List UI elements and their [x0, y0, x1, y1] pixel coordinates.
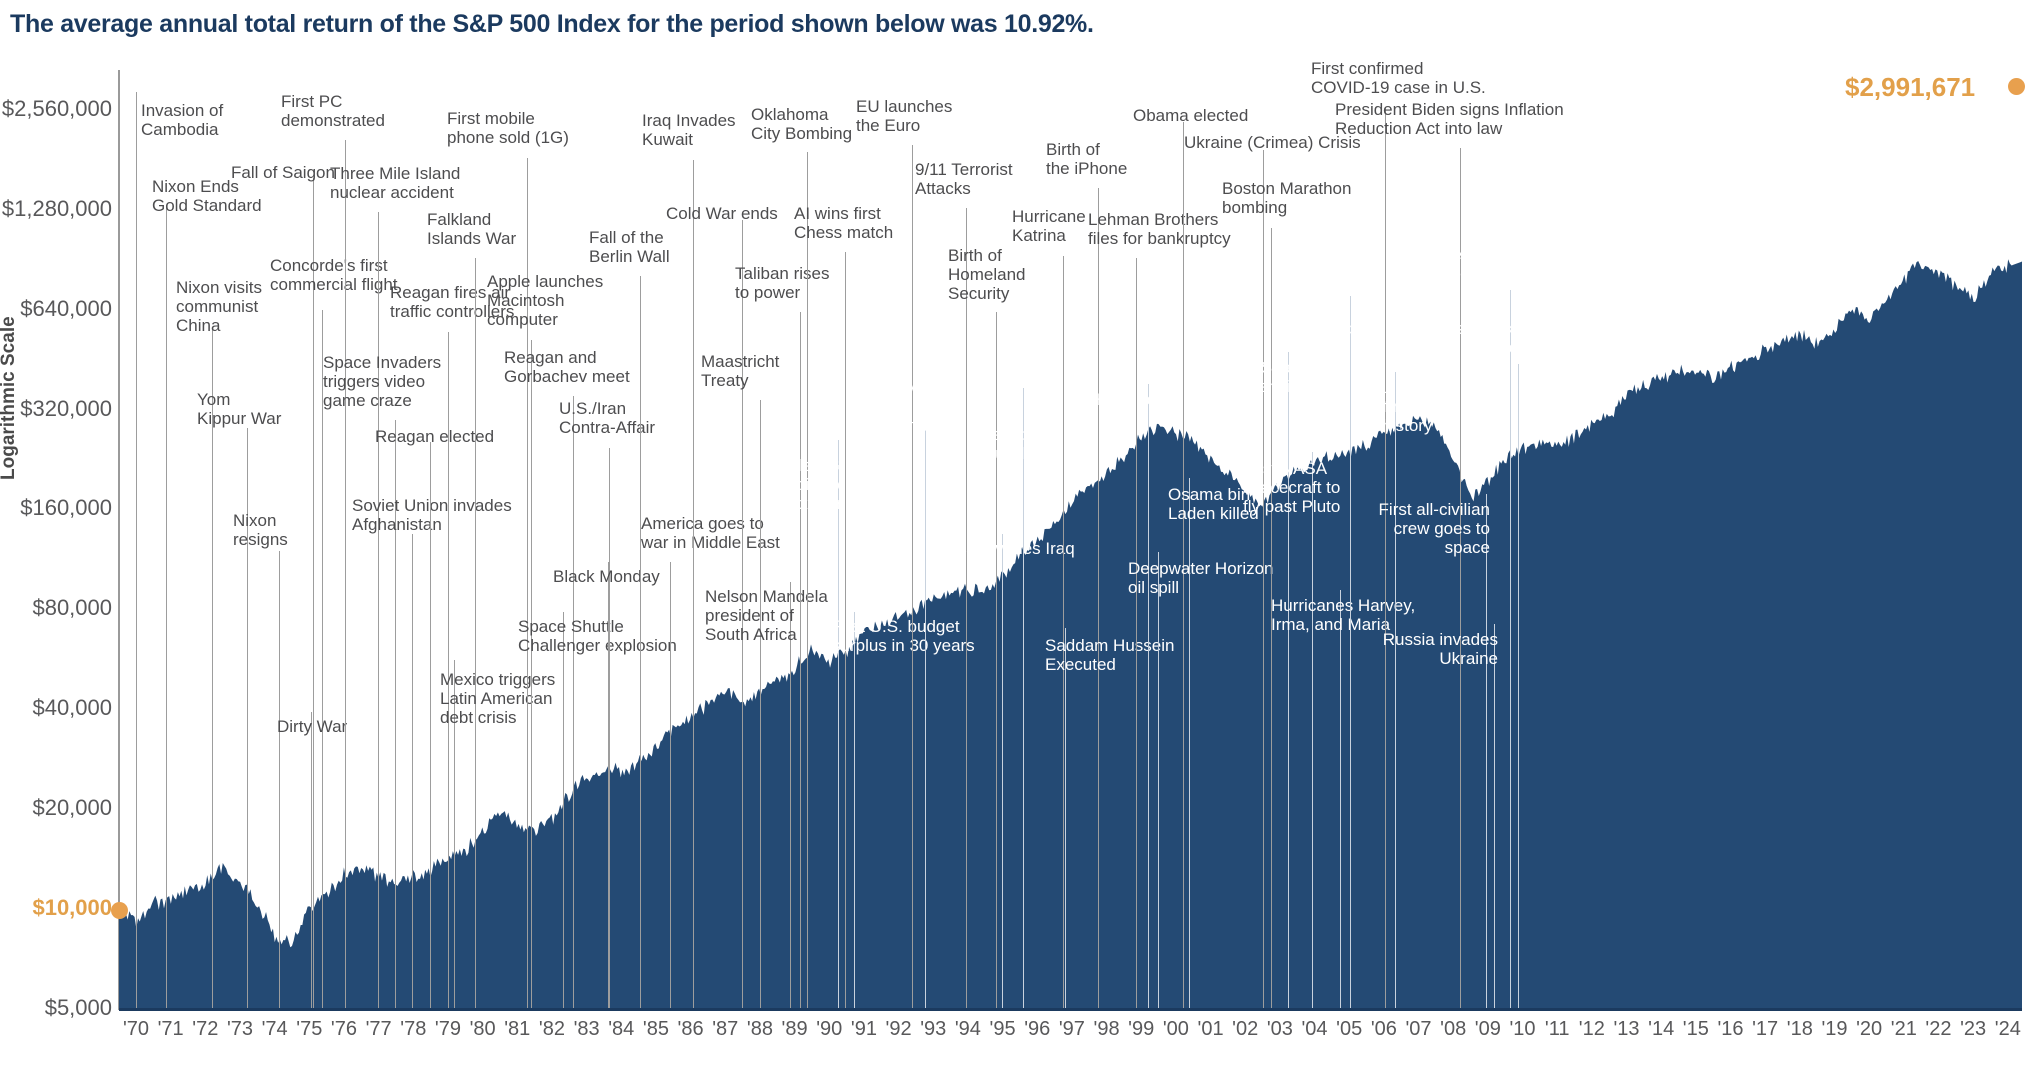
annotation-label: Nixon visits communist China — [176, 278, 262, 335]
x-tick-label: '11 — [1545, 1018, 1570, 1041]
annotation-leader-line — [693, 160, 694, 1008]
x-tick-label: '90 — [816, 1018, 842, 1041]
x-tick-label: '09 — [1475, 1018, 1501, 1041]
annotation-label: Soviet Union invades Afghanistan — [352, 496, 512, 534]
annotation-leader-line — [807, 152, 808, 1008]
annotation-label: Fall of the Berlin Wall — [589, 228, 670, 266]
annotation-leader-line — [412, 534, 413, 1008]
annotation-leader-line — [475, 258, 476, 1008]
y-tick-label: $1,280,000 — [0, 196, 112, 222]
x-tick-label: '23 — [1960, 1018, 1986, 1041]
annotation-leader-line — [1288, 352, 1289, 1008]
annotation-leader-line — [1098, 188, 1099, 1008]
annotation-leader-line — [430, 442, 431, 1008]
x-tick-label: '82 — [539, 1018, 565, 1041]
annotation-leader-line — [378, 212, 379, 1008]
annotation-label: Obama elected — [1133, 106, 1248, 125]
x-tick-label: '78 — [400, 1018, 426, 1041]
x-tick-label: '08 — [1440, 1018, 1466, 1041]
annotation-label: Three Mile Island nuclear accident — [330, 164, 460, 202]
y-tick-label: $40,000 — [0, 695, 112, 721]
annotation-leader-line — [1158, 552, 1159, 1008]
annotation-leader-line — [670, 562, 671, 1008]
x-tick-label: '84 — [608, 1018, 634, 1041]
annotation-label: Lehman Brothers files for bankruptcy — [1088, 210, 1231, 248]
x-tick-label: '06 — [1371, 1018, 1397, 1041]
annotation-label: Birth of Homeland Security — [948, 246, 1026, 303]
annotation-leader-line — [322, 310, 323, 1008]
annotation-leader-line — [563, 612, 564, 1008]
annotation-label: First confirmed COVID-19 case in U.S. — [1311, 59, 1486, 97]
annotation-label: EU launches the Euro — [856, 97, 952, 135]
annotation-label: Trump elected — [1299, 300, 1354, 338]
annotation-label: Apple launches Macintosh computer — [487, 272, 603, 329]
annotation-label: Russia invades Ukraine — [1383, 630, 1498, 668]
annotation-label: Deadliest wildfires in CA history — [1355, 378, 1434, 435]
x-tick-label: '14 — [1648, 1018, 1674, 1041]
annotation-label: Hurricane Katrina — [1012, 207, 1086, 245]
x-tick-label: '13 — [1613, 1018, 1639, 1041]
x-tick-label: '85 — [643, 1018, 669, 1041]
y-tick-label: $80,000 — [0, 595, 112, 621]
annotation-leader-line — [1385, 108, 1386, 1008]
x-axis-line — [119, 1008, 2022, 1011]
x-tick-label: '02 — [1232, 1018, 1258, 1041]
annotation-leader-line — [531, 340, 532, 1008]
annotation-label: ISIS begins offensive in Iraq — [1240, 358, 1360, 396]
x-tick-label: '73 — [227, 1018, 253, 1041]
annotation-leader-line — [1263, 150, 1264, 1008]
y-tick-label: $2,560,000 — [0, 96, 112, 122]
annotation-leader-line — [760, 400, 761, 1008]
y-tick-label: $640,000 — [0, 296, 112, 322]
end-value-label: $2,991,671 — [1845, 72, 1975, 103]
x-tick-label: '05 — [1336, 1018, 1362, 1041]
x-tick-label: '98 — [1094, 1018, 1120, 1041]
annotation-leader-line — [1148, 384, 1149, 1008]
x-tick-label: '01 — [1198, 1018, 1224, 1041]
annotation-leader-line — [1189, 478, 1190, 1008]
annotation-label: Alan Greenspan coins term “Irrational Ex… — [788, 456, 943, 513]
x-tick-label: '72 — [192, 1018, 218, 1041]
annotation-label: Fall of Saigon — [231, 163, 335, 182]
annotation-leader-line — [212, 330, 213, 1008]
annotation-label: Invasion of Cambodia — [141, 101, 223, 139]
annotation-label: Space Invaders triggers video game craze — [323, 353, 441, 410]
annotation-leader-line — [573, 396, 574, 1008]
annotation-leader-line — [1002, 534, 1003, 1008]
annotation-leader-line — [608, 562, 609, 1008]
x-tick-label: '77 — [366, 1018, 392, 1041]
x-tick-label: '00 — [1163, 1018, 1189, 1041]
annotation-label: Hamas attacks Israel — [1410, 319, 1522, 357]
annotation-leader-line — [790, 582, 791, 1008]
x-tick-label: '10 — [1509, 1018, 1535, 1041]
annotation-label: Nelson Mandela president of South Africa — [705, 587, 828, 644]
annotation-leader-line — [640, 276, 641, 1008]
annotation-label: Saddam Hussein Executed — [1045, 636, 1174, 674]
page-title: The average annual total return of the S… — [10, 10, 1094, 39]
x-tick-label: '03 — [1267, 1018, 1293, 1041]
x-tick-label: '99 — [1128, 1018, 1154, 1041]
annotation-leader-line — [313, 178, 314, 1008]
x-tick-label: '21 — [1891, 1018, 1917, 1041]
x-tick-label: '75 — [296, 1018, 322, 1041]
x-tick-label: '19 — [1821, 1018, 1847, 1041]
annotation-leader-line — [1494, 624, 1495, 1008]
annotation-label: Cold War ends — [666, 204, 778, 223]
x-tick-label: '83 — [574, 1018, 600, 1041]
annotation-label: First U.S. budget surplus in 30 years — [832, 617, 975, 655]
annotation-leader-line — [925, 430, 926, 1008]
y-tick-label: $5,000 — [0, 995, 112, 1021]
annotation-label: Taliban rises to power — [735, 264, 830, 302]
annotation-label: 9/11 Terrorist Attacks — [915, 160, 1013, 198]
x-tick-label: '95 — [990, 1018, 1016, 1041]
annotation-label: First mobile phone sold (1G) — [447, 109, 569, 147]
annotation-leader-line — [609, 448, 610, 1008]
x-tick-label: '79 — [435, 1018, 461, 1041]
x-tick-label: '91 — [851, 1018, 877, 1041]
x-tick-label: '81 — [504, 1018, 530, 1041]
annotation-label: Maastricht Treaty — [701, 352, 779, 390]
x-tick-label: '16 — [1717, 1018, 1743, 1041]
annotation-label: President Biden signs Inflation Reductio… — [1335, 100, 1564, 138]
annotation-leader-line — [1340, 590, 1341, 1008]
annotation-leader-line — [1023, 388, 1024, 1008]
annotation-leader-line — [1486, 494, 1487, 1008]
x-tick-label: '20 — [1856, 1018, 1882, 1041]
annotation-label: Reagan elected — [375, 427, 494, 446]
annotation-label: Mexico triggers Latin American debt cris… — [440, 670, 555, 727]
annotation-leader-line — [1065, 628, 1066, 1008]
annotation-label: Space Shuttle Challenger explosion — [518, 617, 677, 655]
x-tick-label: '04 — [1301, 1018, 1327, 1041]
annotation-label: Black Monday — [553, 567, 660, 586]
annotation-leader-line — [279, 551, 280, 1008]
annotation-leader-line — [1312, 452, 1313, 1008]
annotation-leader-line — [1136, 258, 1137, 1008]
x-tick-label: '96 — [1024, 1018, 1050, 1041]
annotation-label: Falkland Islands War — [427, 210, 516, 248]
end-value-marker — [2008, 78, 2025, 95]
y-tick-label: $10,000 — [0, 895, 112, 921]
x-tick-label: '88 — [747, 1018, 773, 1041]
annotation-label: Yom Kippur War — [197, 390, 281, 428]
annotation-label: Boston Marathon bombing — [1222, 179, 1351, 217]
x-tick-label: '24 — [1995, 1018, 2021, 1041]
x-tick-label: '93 — [920, 1018, 946, 1041]
x-tick-label: '76 — [331, 1018, 357, 1041]
annotation-leader-line — [345, 140, 346, 1008]
annotation-label: Birth of the iPhone — [1046, 140, 1127, 178]
x-tick-label: '71 — [158, 1018, 184, 1041]
annotation-label: H1N1 declared global pandemic — [1089, 390, 1213, 428]
x-axis-ticks: '70'71'72'73'74'75'76'77'78'79'80'81'82'… — [119, 1018, 2022, 1048]
y-tick-label: $320,000 — [0, 396, 112, 422]
x-tick-label: '70 — [123, 1018, 149, 1041]
start-value-marker — [111, 902, 128, 919]
annotation-leader-line — [800, 312, 801, 1008]
x-tick-label: '94 — [955, 1018, 981, 1041]
x-tick-label: '97 — [1059, 1018, 1085, 1041]
annotation-label: Dirty War — [277, 717, 347, 736]
annotation-label: First all-civilian crew goes to space — [1379, 500, 1490, 557]
annotation-leader-line — [854, 612, 855, 1008]
annotation-label: Nixon Ends Gold Standard — [152, 177, 262, 215]
annotation-leader-line — [1063, 256, 1064, 1008]
x-tick-label: '86 — [678, 1018, 704, 1041]
annotation-label: Facebook is launched — [982, 425, 1074, 463]
x-tick-label: '17 — [1752, 1018, 1778, 1041]
annotation-label: First PC demonstrated — [281, 92, 385, 130]
x-tick-label: '12 — [1579, 1018, 1605, 1041]
annotation-label: Deepwater Horizon oil spill — [1128, 559, 1274, 597]
x-tick-label: '92 — [886, 1018, 912, 1041]
annotation-leader-line — [1518, 364, 1519, 1008]
annotation-label: U.S invades Iraq — [949, 539, 1075, 558]
annotation-label: Silicon Valley Bank Collapse — [1371, 245, 1514, 283]
annotation-label: AI wins first Chess match — [794, 204, 893, 242]
x-tick-label: '87 — [712, 1018, 738, 1041]
annotation-leader-line — [1395, 372, 1396, 1008]
annotation-leader-line — [966, 208, 967, 1008]
x-tick-label: '89 — [782, 1018, 808, 1041]
x-tick-label: '74 — [262, 1018, 288, 1041]
annotation-leader-line — [166, 205, 167, 1008]
y-tick-label: $160,000 — [0, 495, 112, 521]
x-tick-label: '07 — [1405, 1018, 1431, 1041]
annotation-label: Iraq Invades Kuwait — [642, 111, 736, 149]
annotation-label: Oklahoma City Bombing — [751, 105, 852, 143]
annotation-leader-line — [838, 440, 839, 1008]
x-tick-label: '22 — [1925, 1018, 1951, 1041]
y-tick-label: $20,000 — [0, 795, 112, 821]
annotation-label: Nixon resigns — [233, 511, 288, 549]
annotation-label: Hurricanes Harvey, Irma, and Maria — [1271, 596, 1415, 634]
annotation-label: First NASA spacecraft to fly past Pluto — [1243, 459, 1340, 516]
annotation-leader-line — [1350, 296, 1351, 1008]
annotation-leader-line — [136, 92, 137, 1008]
x-tick-label: '80 — [470, 1018, 496, 1041]
annotation-leader-line — [996, 312, 997, 1008]
annotation-label: Reagan and Gorbachev meet — [504, 348, 630, 386]
annotation-leader-line — [912, 145, 913, 1008]
annotation-leader-line — [311, 712, 312, 1008]
x-tick-label: '18 — [1787, 1018, 1813, 1041]
x-tick-label: '15 — [1683, 1018, 1709, 1041]
annotation-leader-line — [1510, 290, 1511, 1008]
